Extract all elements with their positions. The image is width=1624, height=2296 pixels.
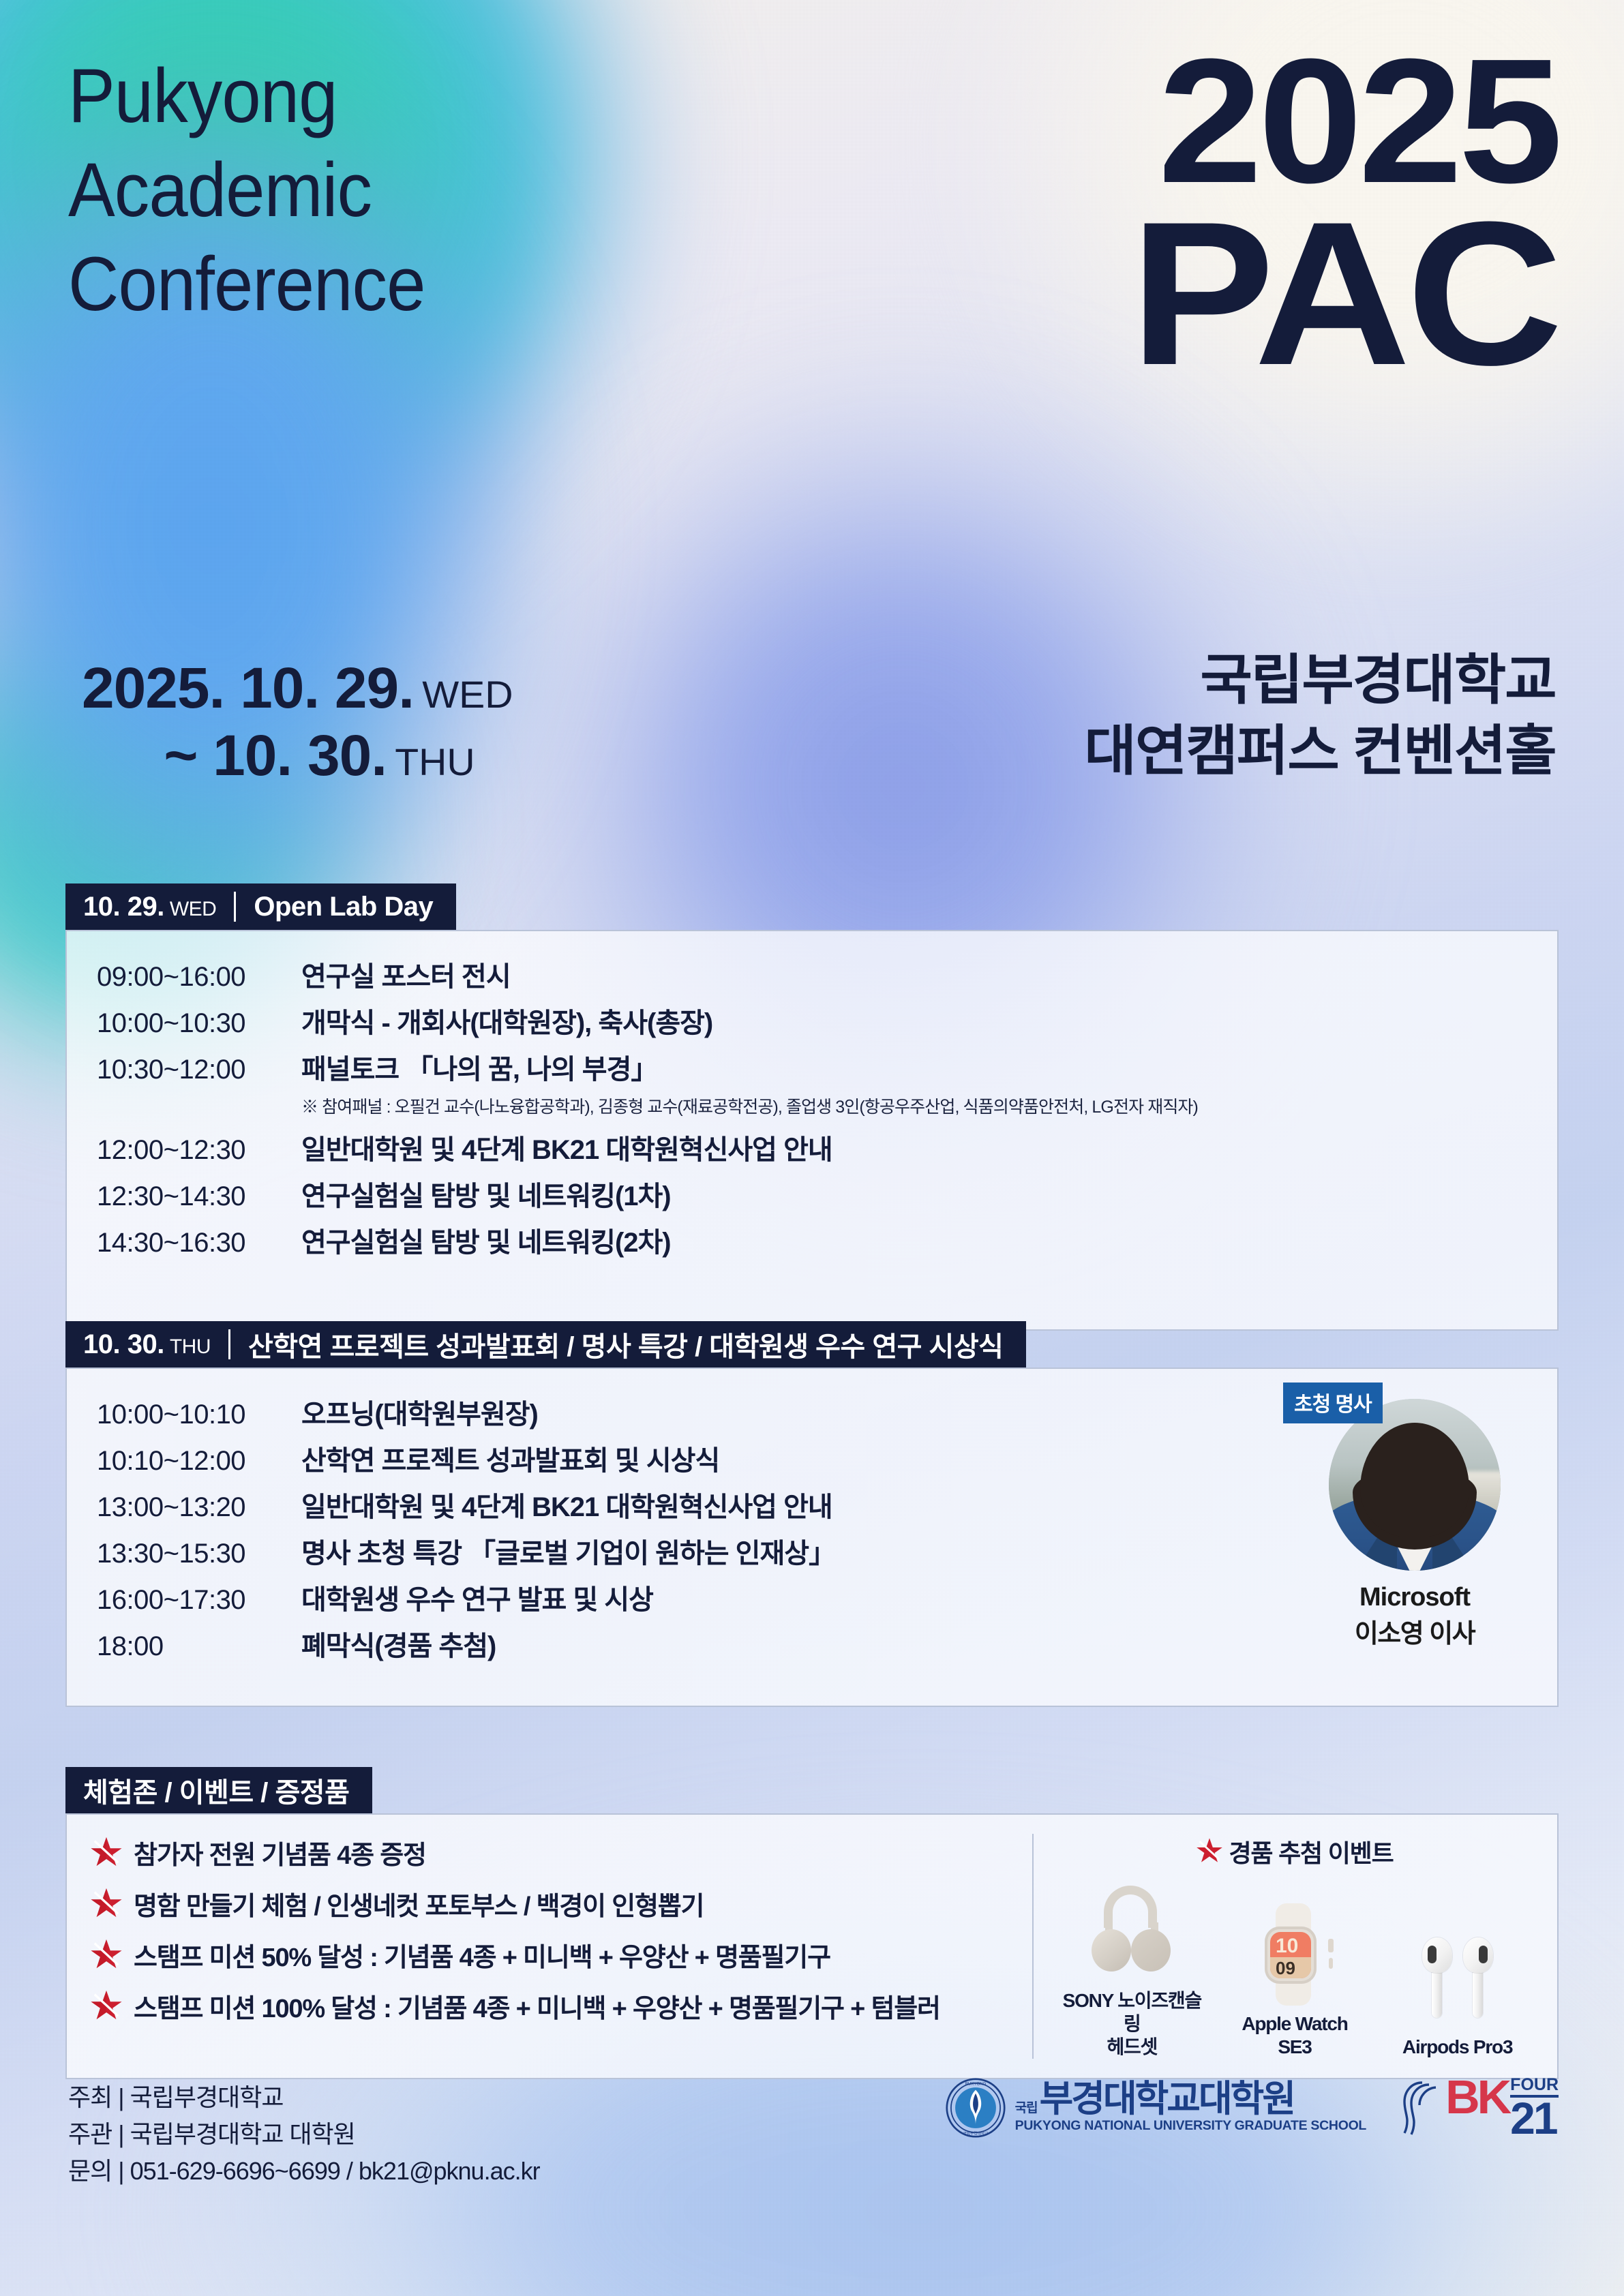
bk21-wordmark: BK FOUR 21 (1445, 2076, 1559, 2139)
schedule-time: 12:00~12:30 (97, 1135, 301, 1166)
poster-header: Pukyong Academic Conference 2025 PAC 202… (0, 0, 1624, 859)
watch-crown (1328, 1939, 1334, 1952)
schedule-time: 18:00 (97, 1631, 301, 1662)
day1-tab-date: 10. 29.WED (83, 892, 216, 922)
event-benefit-list: 참가자 전원 기념품 4종 증정 명함 만들기 체험 / 인생네컷 포토부스 /… (90, 1834, 1032, 2059)
day2-date-value: 10. 30. (83, 1329, 164, 1359)
schedule-section-day1: 10. 29.WED Open Lab Day 09:00~16:00 연구실 … (65, 883, 1559, 1331)
pknu-korean-name: 국립 부경대학교대학원 (1015, 2083, 1366, 2117)
pac-abbreviation: PAC (1130, 199, 1559, 387)
date-start-dow: WED (422, 673, 513, 716)
earbud-right (1463, 1937, 1493, 2018)
schedule-desc: 패널토크 「나의 꿈, 나의 부경」 (301, 1047, 657, 1087)
earbud-stem-right (1473, 1973, 1483, 2018)
schedule-desc: 연구실험실 탐방 및 네트워킹(1차) (301, 1174, 671, 1213)
schedule-time: 10:30~12:00 (97, 1055, 301, 1085)
watch-digits-bottom: 09 (1276, 1959, 1295, 1977)
day1-date-dow: WED (170, 898, 217, 920)
schedule-desc: 연구실 포스터 전시 (301, 954, 511, 994)
headphones-icon (1092, 1886, 1172, 1977)
day1-tab-label: Open Lab Day (254, 892, 456, 922)
day2-tab-date: 10. 30.THU (83, 1329, 211, 1360)
prize-draw-panel: 경품 추첨 이벤트 SONY 노이 (1032, 1834, 1537, 2059)
schedule-time: 14:30~16:30 (97, 1228, 301, 1258)
speaker-name: 이소영 이사 (1302, 1612, 1527, 1650)
prize-image: 10 09 (1218, 1897, 1372, 2012)
schedule-time: 13:30~15:30 (97, 1539, 301, 1569)
day2-body: 10:00~10:10 오프닝(대학원부원장) 10:10~12:00 산학연 … (65, 1368, 1559, 1707)
watch-digits-top: 10 (1276, 1936, 1298, 1957)
earbud-left (1422, 1937, 1452, 2018)
day2-tab: 10. 30.THU 산학연 프로젝트 성과발표회 / 명사 특강 / 대학원생… (65, 1321, 1026, 1368)
bk21-right-group: FOUR 21 (1510, 2076, 1559, 2139)
day1-tab-row: 10. 29.WED Open Lab Day (65, 883, 1559, 930)
prize-image (1055, 1873, 1209, 1989)
date-end-value: ~ 10. 30. (164, 723, 387, 787)
event-tab: 체험존 / 이벤트 / 증정품 (65, 1767, 372, 1813)
earbud-stem-left (1432, 1973, 1442, 2018)
bk21-head-icon (1399, 2080, 1441, 2136)
schedule-desc: 명사 초청 특강 「글로벌 기업이 원하는 인재상」 (301, 1531, 835, 1571)
pknu-wordmark: 국립 부경대학교대학원 PUKYONG NATIONAL UNIVERSITY … (1015, 2083, 1366, 2133)
date-end-dow: THU (395, 740, 475, 783)
day2-tab-row: 10. 30.THU 산학연 프로젝트 성과발표회 / 명사 특강 / 대학원생… (65, 1321, 1559, 1368)
poster-footer: 주최 | 국립부경대학교 주관 | 국립부경대학교 대학원 문의 | 051-6… (0, 2037, 1624, 2296)
day2-tab-label: 산학연 프로젝트 성과발표회 / 명사 특강 / 대학원생 우수 연구 시상식 (248, 1325, 1026, 1364)
svg-text:국립부경대학교: 국립부경대학교 (963, 2130, 988, 2136)
schedule-section-day2: 10. 30.THU 산학연 프로젝트 성과발표회 / 명사 특강 / 대학원생… (65, 1321, 1559, 1707)
table-row: 14:30~16:30 연구실험실 탐방 및 네트워킹(2차) (97, 1220, 1527, 1260)
schedule-time: 09:00~16:00 (97, 962, 301, 993)
footer-host: 주최 | 국립부경대학교 (68, 2079, 540, 2116)
footer-organizer: 주관 | 국립부경대학교 대학원 (68, 2116, 540, 2153)
day1-tab: 10. 29.WED Open Lab Day (65, 883, 456, 930)
bk21-bk-text: BK (1445, 2076, 1509, 2117)
brand-line-2: Academic (68, 143, 425, 237)
day1-body: 09:00~16:00 연구실 포스터 전시 10:00~10:30 개막식 -… (65, 930, 1559, 1331)
table-row: 12:30~14:30 연구실험실 탐방 및 네트워킹(1차) (97, 1174, 1527, 1213)
prize-item-headphones: SONY 노이즈캔슬링헤드셋 (1055, 1873, 1209, 2059)
invited-speaker-card: 초청 명사 Microsof (1302, 1380, 1527, 1650)
schedule-desc: 폐막식(경품 추첨) (301, 1624, 496, 1663)
poster-canvas: Pukyong Academic Conference 2025 PAC 202… (0, 0, 1624, 2296)
schedule-time: 12:30~14:30 (97, 1181, 301, 1212)
star-icon (1196, 1837, 1223, 1864)
table-row: 12:00~12:30 일반대학원 및 4단계 BK21 대학원혁신사업 안내 (97, 1128, 1527, 1167)
tab-divider (234, 892, 236, 922)
date-line-start: 2025. 10. 29.WED (82, 654, 513, 722)
status-badge: 초청 명사 (1283, 1383, 1383, 1423)
star-icon (90, 1835, 123, 1868)
schedule-desc: 산학연 프로젝트 성과발표회 및 시상식 (301, 1438, 719, 1478)
bk21-logo: BK FOUR 21 (1399, 2076, 1559, 2139)
earbud-grill-right (1479, 1946, 1488, 1963)
earbuds-icon (1417, 1933, 1499, 2022)
svg-text:PUKYONG: PUKYONG (965, 2081, 986, 2086)
earbud-head-left (1422, 1937, 1452, 1973)
star-icon (90, 1937, 123, 1970)
event-dates: 2025. 10. 29.WED ~ 10. 30.THU (82, 654, 505, 789)
brand-title: Pukyong Academic Conference (68, 49, 425, 331)
date-start-value: 2025. 10. 29. (82, 656, 414, 720)
earbud-head-right (1463, 1937, 1493, 1973)
watch-side-button (1329, 1958, 1333, 1969)
schedule-time: 10:00~10:10 (97, 1400, 301, 1430)
list-item-label: 참가자 전원 기념품 4종 증정 (134, 1834, 426, 1871)
star-icon (90, 1886, 123, 1919)
smartwatch-icon: 10 09 (1259, 1903, 1330, 2006)
venue-line-2: 대연캠퍼스 컨벤션홀 (1085, 716, 1556, 787)
event-tab-row: 체험존 / 이벤트 / 증정품 (65, 1767, 1559, 1813)
headphone-cup-right (1131, 1929, 1171, 1972)
brand-line-3: Conference (68, 237, 425, 331)
list-item-label: 명함 만들기 체험 / 인생네컷 포토부스 / 백경이 인형뽑기 (134, 1885, 704, 1922)
event-venue: 국립부경대학교 대연캠퍼스 컨벤션홀 (1102, 645, 1556, 787)
prize-title: 경품 추첨 이벤트 (1229, 1834, 1393, 1869)
earbud-grill-left (1428, 1946, 1437, 1963)
venue-line-1: 국립부경대학교 (1085, 645, 1556, 716)
day1-date-value: 10. 29. (83, 892, 164, 922)
table-row: 09:00~16:00 연구실 포스터 전시 (97, 954, 1527, 994)
watch-case: 10 09 (1265, 1927, 1317, 1984)
day2-date-dow: THU (170, 1335, 211, 1358)
tab-divider (228, 1329, 230, 1359)
list-item-label: 스탬프 미션 50% 달성 : 기념품 4종 + 미니백 + 우양산 + 명품필… (134, 1936, 830, 1974)
avatar (1329, 1399, 1501, 1571)
date-line-end: ~ 10. 30.THU (82, 722, 513, 789)
pknu-kr-main: 부경대학교대학원 (1040, 2083, 1294, 2117)
prize-header: 경품 추첨 이벤트 (1053, 1834, 1537, 1869)
prize-item-watch: 10 09 Apple WatchSE3 (1218, 1897, 1372, 2059)
prize-image (1381, 1920, 1535, 2036)
schedule-desc: 개막식 - 개회사(대학원장), 축사(총장) (301, 1001, 712, 1040)
pknu-english-name: PUKYONG NATIONAL UNIVERSITY GRADUATE SCH… (1015, 2119, 1366, 2133)
schedule-desc: 대학원생 우수 연구 발표 및 시상 (301, 1577, 653, 1617)
event-tab-label: 체험존 / 이벤트 / 증정품 (83, 1770, 372, 1810)
bk21-number-text: 21 (1510, 2098, 1556, 2139)
list-item: 스탬프 미션 100% 달성 : 기념품 4종 + 미니백 + 우양산 + 명품… (90, 1987, 1013, 2025)
table-row: 10:30~12:00 패널토크 「나의 꿈, 나의 부경」 (97, 1047, 1527, 1087)
event-section: 체험존 / 이벤트 / 증정품 참가자 전원 기념품 4종 증정 (65, 1767, 1559, 2079)
list-item: 참가자 전원 기념품 4종 증정 (90, 1834, 1013, 1871)
brand-line-1: Pukyong (68, 49, 425, 143)
list-item-label: 스탬프 미션 100% 달성 : 기념품 4종 + 미니백 + 우양산 + 명품… (134, 1987, 940, 2025)
watch-screen: 10 09 (1270, 1932, 1311, 1978)
pac-logotype: 2025 PAC (1154, 40, 1559, 387)
footer-logos: PUKYONG 국립부경대학교 국립 부경대학교대학원 PUKYONG NATI… (946, 2076, 1559, 2139)
list-item: 명함 만들기 체험 / 인생네컷 포토부스 / 백경이 인형뽑기 (90, 1885, 1013, 1922)
schedule-time: 10:00~10:30 (97, 1008, 301, 1039)
schedule-desc: 일반대학원 및 4단계 BK21 대학원혁신사업 안내 (301, 1128, 832, 1167)
footer-contact-block: 주최 | 국립부경대학교 주관 | 국립부경대학교 대학원 문의 | 051-6… (68, 2079, 540, 2190)
schedule-desc: 일반대학원 및 4단계 BK21 대학원혁신사업 안내 (301, 1485, 832, 1524)
schedule-time: 13:00~13:20 (97, 1492, 301, 1523)
schedule-time: 10:10~12:00 (97, 1446, 301, 1477)
panel-note: ※ 참여패널 : 오필건 교수(나노융합공학과), 김종형 교수(재료공학전공)… (301, 1093, 1527, 1118)
university-seal-icon: PUKYONG 국립부경대학교 (946, 2078, 1006, 2138)
table-row: 10:00~10:30 개막식 - 개회사(대학원장), 축사(총장) (97, 1001, 1527, 1040)
footer-inquiry: 문의 | 051-629-6696~6699 / bk21@pknu.ac.kr (68, 2153, 540, 2190)
pknu-kr-prefix: 국립 (1015, 2102, 1038, 2114)
star-icon (90, 1989, 123, 2021)
headphone-band (1104, 1886, 1157, 1928)
headphone-cup-left (1092, 1929, 1131, 1972)
prize-grid: SONY 노이즈캔슬링헤드셋 10 (1053, 1873, 1537, 2059)
schedule-desc: 연구실험실 탐방 및 네트워킹(2차) (301, 1220, 671, 1260)
schedule-desc: 오프닝(대학원부원장) (301, 1392, 538, 1432)
schedule-time: 16:00~17:30 (97, 1585, 301, 1616)
list-item: 스탬프 미션 50% 달성 : 기념품 4종 + 미니백 + 우양산 + 명품필… (90, 1936, 1013, 1974)
pknu-logo: PUKYONG 국립부경대학교 국립 부경대학교대학원 PUKYONG NATI… (946, 2078, 1366, 2138)
speaker-organization: Microsoft (1302, 1583, 1527, 1612)
